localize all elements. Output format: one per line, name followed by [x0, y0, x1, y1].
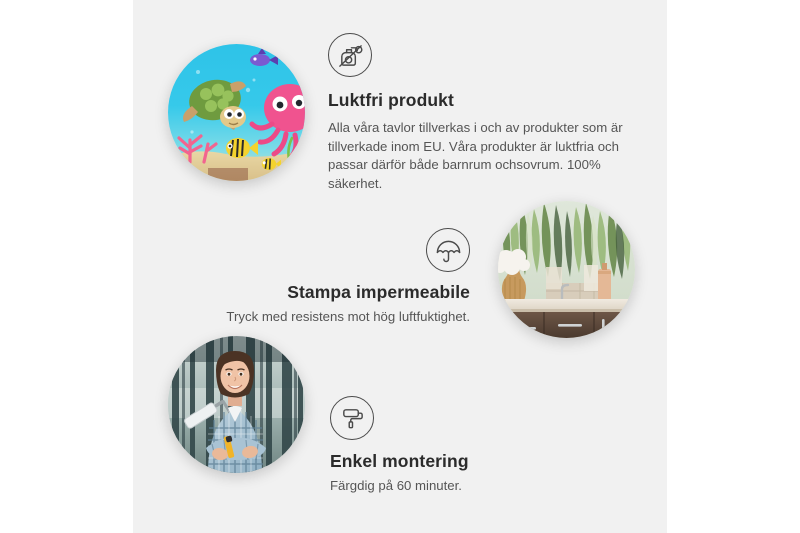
bathroom-tropical-wallpaper-photo: [498, 201, 635, 338]
paint-roller-icon: [330, 396, 374, 440]
umbrella-icon: [426, 228, 470, 272]
no-spray-bottle-icon: [328, 33, 372, 77]
feature-3-description: Färgdig på 60 minuter.: [330, 477, 615, 496]
feature-2-description: Tryck med resistens mot hög luftfuktighe…: [188, 308, 470, 327]
feature-2-icon-wrap: [188, 228, 470, 272]
feature-3-text: Enkel montering Färgdig på 60 minuter.: [330, 396, 615, 496]
feature-1-text: Luktfri produkt Alla våra tavlor tillver…: [328, 33, 623, 193]
woman-with-paint-roller-photo: [168, 336, 305, 473]
promo-banner: Luktfri produkt Alla våra tavlor tillver…: [0, 0, 800, 533]
feature-2-title: Stampa impermeabile: [188, 282, 470, 303]
feature-2-text: Stampa impermeabile Tryck med resistens …: [188, 228, 470, 327]
feature-1-title: Luktfri produkt: [328, 90, 623, 111]
feature-1-description: Alla våra tavlor tillverkas i och av pro…: [328, 119, 623, 193]
underwater-cartoon-scene-photo: [168, 44, 305, 181]
feature-3-title: Enkel montering: [330, 451, 615, 472]
feature-1-icon-wrap: [328, 33, 623, 77]
feature-3-icon-wrap: [330, 396, 615, 440]
